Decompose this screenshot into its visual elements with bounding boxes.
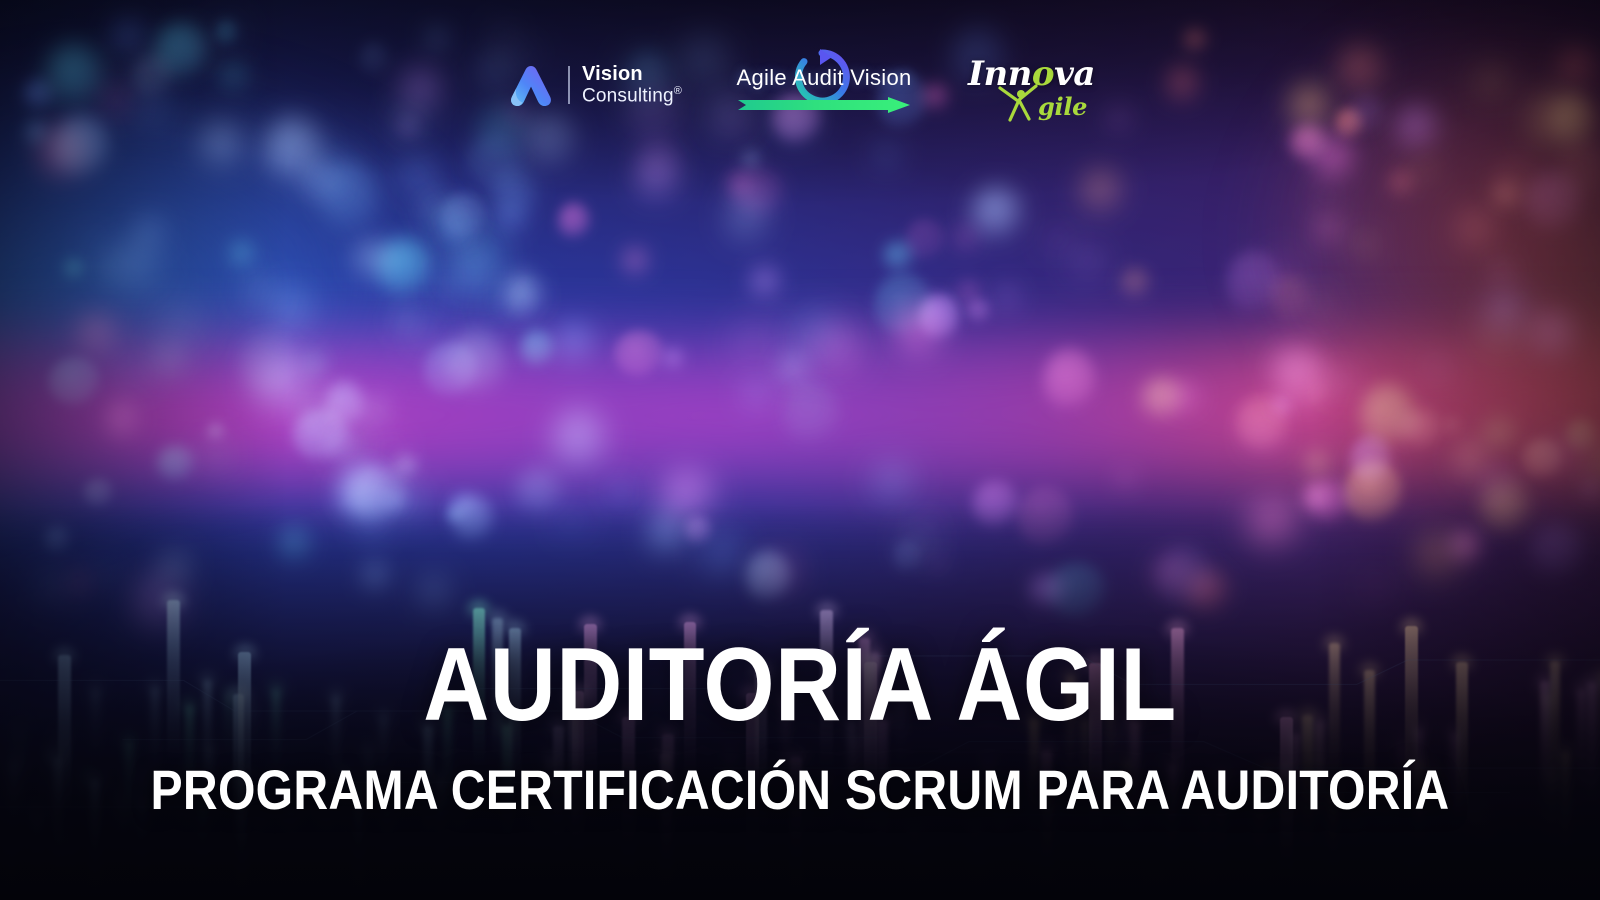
logo-agile-audit-vision[interactable]: Agile Audit Vision bbox=[736, 49, 912, 121]
vision-a-wave-mark-icon bbox=[506, 62, 556, 108]
vision-line-1: Vision bbox=[582, 63, 682, 85]
running-person-icon bbox=[996, 82, 1042, 122]
registered-mark: ® bbox=[674, 85, 682, 97]
green-right-arrow-icon bbox=[738, 97, 910, 113]
partner-logo-bar: Vision Consulting® Agile Audit Vision bbox=[0, 48, 1600, 122]
vision-consulting-wordmark: Vision Consulting® bbox=[582, 63, 682, 107]
logo-vision-consulting[interactable]: Vision Consulting® bbox=[506, 62, 682, 108]
logo-innovagile[interactable]: Innova gile bbox=[966, 48, 1094, 122]
page-title: AUDITORÍA ÁGIL bbox=[96, 636, 1504, 736]
innova-gile-text: gile bbox=[1038, 92, 1087, 121]
vision-line-2: Consulting® bbox=[582, 85, 682, 107]
slide-canvas: Vision Consulting® Agile Audit Vision bbox=[0, 0, 1600, 900]
agile-audit-vision-wordmark: Agile Audit Vision bbox=[736, 65, 912, 91]
headline-block: AUDITORÍA ÁGIL PROGRAMA CERTIFICACIÓN SC… bbox=[0, 636, 1600, 818]
logo-divider bbox=[568, 66, 570, 104]
page-subtitle: PROGRAMA CERTIFICACIÓN SCRUM PARA AUDITO… bbox=[112, 762, 1488, 818]
